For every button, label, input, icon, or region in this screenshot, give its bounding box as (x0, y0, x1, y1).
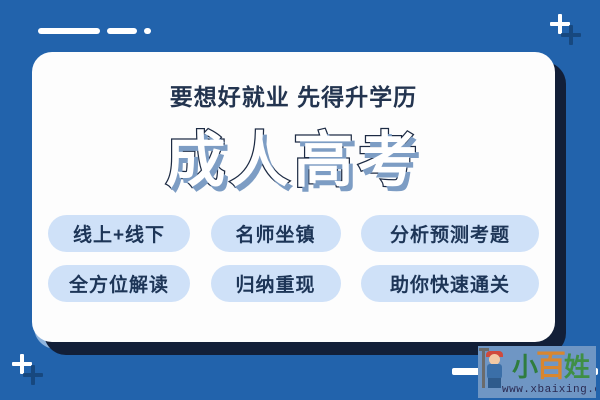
watermark-url: www.xbaixing.com (502, 384, 596, 396)
page-subtitle: 要想好就业 先得升学历 (32, 78, 555, 112)
farmer-figure-icon (482, 348, 508, 388)
pill-full-interpretation[interactable]: 全方位解读 (48, 265, 190, 302)
dash-medium-icon (107, 28, 137, 34)
pill-fast-pass[interactable]: 助你快速通关 (361, 265, 539, 302)
pill-summary-review[interactable]: 归纳重现 (211, 265, 341, 302)
pill-row: 线上+线下 名师坐镇 分析预测考题 (48, 215, 539, 252)
poster-canvas: 要想好就业 先得升学历 成人高考 线上+线下 名师坐镇 分析预测考题 全方位解读… (0, 0, 600, 400)
watermark-char-1: 小 (512, 354, 538, 380)
plus-icon-shadow (23, 365, 43, 385)
watermark: 小 百 姓 www.xbaixing.com (478, 346, 596, 398)
content-card: 要想好就业 先得升学历 成人高考 线上+线下 名师坐镇 分析预测考题 全方位解读… (32, 52, 555, 342)
legs-icon (488, 378, 501, 388)
pill-row: 全方位解读 归纳重现 助你快速通关 (48, 265, 539, 302)
decorative-dashes (38, 28, 151, 34)
plus-icon-shadow (561, 25, 581, 45)
dash-long-icon (38, 28, 100, 34)
body-icon (487, 364, 502, 379)
watermark-char-2: 百 (536, 352, 566, 382)
feature-pill-grid: 线上+线下 名师坐镇 分析预测考题 全方位解读 归纳重现 助你快速通关 (48, 215, 539, 302)
watermark-char-3: 姓 (564, 354, 590, 380)
plus-icon-bottom-left (10, 354, 50, 394)
pill-expert-teachers[interactable]: 名师坐镇 (211, 215, 341, 252)
rake-icon (482, 348, 485, 388)
pill-exam-prediction[interactable]: 分析预测考题 (361, 215, 539, 252)
plus-icon-top-right (548, 14, 588, 54)
dash-dot-icon (144, 28, 151, 34)
pill-online-offline[interactable]: 线上+线下 (48, 215, 190, 252)
page-title: 成人高考 (32, 112, 555, 199)
